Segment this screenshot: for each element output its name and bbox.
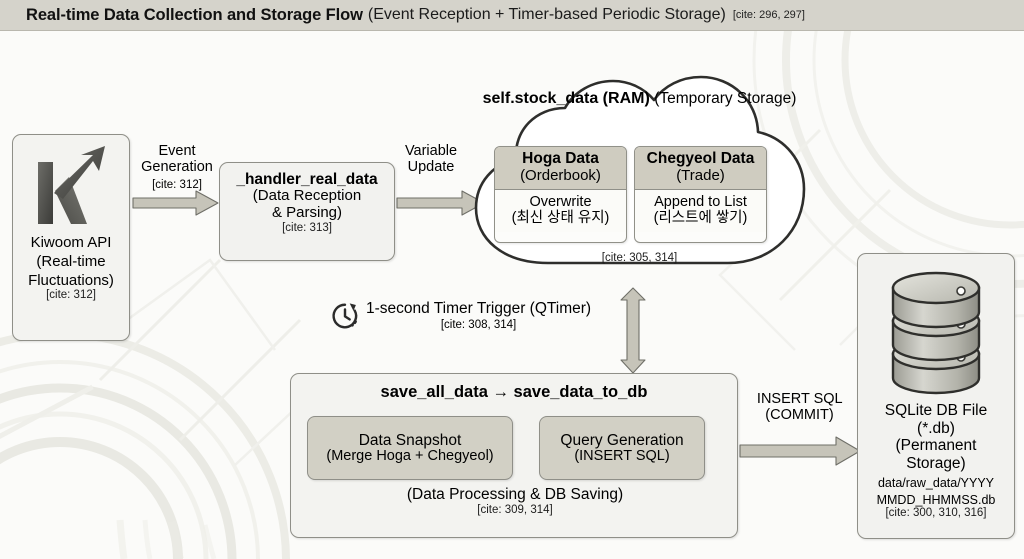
cloud-title: self.stock_data (RAM) <box>483 90 650 107</box>
db-label-line3: (Permanent <box>858 437 1014 455</box>
chegyeol-body-line1: Append to List <box>637 194 764 210</box>
kiwoom-label-line3: Fluctuations) <box>13 273 129 290</box>
flow-label-cite: [cite: 312] <box>131 179 223 192</box>
chegyeol-header: Chegyeol Data (Trade) <box>635 147 766 190</box>
database-cylinder-icon <box>881 262 991 402</box>
flow-label-event-generation: Event Generation [cite: 312] <box>131 144 223 192</box>
db-label-line2: (*.db) <box>858 420 1014 438</box>
flow-label-line2: (COMMIT) <box>765 407 833 423</box>
snapshot-line2: (Merge Hoga + Chegyeol) <box>326 449 493 465</box>
save-panel-title: save_all_data → save_data_to_db <box>291 383 737 401</box>
flow-label-insert-sql: INSERT SQL (COMMIT) <box>742 392 857 424</box>
node-data-snapshot[interactable]: Data Snapshot (Merge Hoga + Chegyeol) <box>307 416 513 480</box>
kiwoom-cite: [cite: 312] <box>13 289 129 302</box>
timer-cite: [cite: 308, 314] <box>366 319 591 331</box>
cloud-cite-wrap: [cite: 305, 314] <box>452 248 827 266</box>
kiwoom-label-line1: Kiwoom API <box>13 235 129 252</box>
arrow-event-generation <box>133 191 218 215</box>
handler-cite: [cite: 313] <box>220 222 394 235</box>
chegyeol-body: Append to List (리스트에 쌓기) <box>635 190 766 231</box>
hoga-body: Overwrite (최신 상태 유지) <box>495 190 626 231</box>
hoga-title: Hoga Data <box>497 151 624 168</box>
snapshot-line1: Data Snapshot <box>359 432 462 449</box>
diagram-canvas: Real-time Data Collection and Storage Fl… <box>0 0 1024 559</box>
clock-refresh-icon <box>330 301 360 331</box>
kiwoom-k-arrow-logo <box>13 141 131 233</box>
query-line1: Query Generation <box>560 432 683 449</box>
db-cite: [cite: 300, 310, 316] <box>858 507 1014 520</box>
save-panel-footer-text: (Data Processing & DB Saving) <box>291 486 739 504</box>
handler-line2: & Parsing) <box>220 205 394 222</box>
handler-line1: (Data Reception <box>220 188 394 205</box>
hoga-subtitle: (Orderbook) <box>497 168 624 185</box>
chegyeol-subtitle: (Trade) <box>637 168 764 185</box>
save-panel-cite: [cite: 309, 314] <box>291 504 739 517</box>
title-citation: [cite: 296, 297] <box>733 9 805 21</box>
db-path-line2: MMDD_HHMMSS.db <box>858 493 1014 507</box>
timer-label: 1-second Timer Trigger (QTimer) <box>366 300 591 317</box>
flow-label-line1: Variable <box>405 143 457 159</box>
node-query-generation[interactable]: Query Generation (INSERT SQL) <box>539 416 705 480</box>
diagram-title-bar: Real-time Data Collection and Storage Fl… <box>0 0 1024 31</box>
hoga-header: Hoga Data (Orderbook) <box>495 147 626 190</box>
node-save-all-data-panel[interactable]: save_all_data → save_data_to_db Data Sna… <box>290 373 738 538</box>
arrow-insert-sql <box>740 437 860 465</box>
timer-trigger-text: 1-second Timer Trigger (QTimer) [cite: 3… <box>366 300 591 331</box>
cloud-cite: [cite: 305, 314] <box>602 252 677 264</box>
node-stock-data-cloud[interactable]: self.stock_data (RAM) (Temporary Storage… <box>452 58 827 273</box>
flow-label-line2: Generation <box>141 159 213 175</box>
handler-title: _handler_real_data <box>220 171 394 188</box>
hoga-body-line2: (최신 상태 유지) <box>497 210 624 226</box>
save-panel-footer: (Data Processing & DB Saving) [cite: 309… <box>291 486 739 517</box>
kiwoom-label-line2: (Real-time <box>13 254 129 271</box>
hoga-body-line1: Overwrite <box>497 194 624 210</box>
flow-label-line1: Event <box>158 143 195 159</box>
page-title: Real-time Data Collection and Storage Fl… <box>26 6 363 25</box>
node-sqlite-db-file[interactable]: SQLite DB File (*.db) (Permanent Storage… <box>857 253 1015 539</box>
node-chegyeol-data[interactable]: Chegyeol Data (Trade) Append to List (리스… <box>634 146 767 243</box>
node-hoga-data[interactable]: Hoga Data (Orderbook) Overwrite (최신 상태 유… <box>494 146 627 243</box>
db-label-line1: SQLite DB File <box>858 402 1014 420</box>
node-handler-real-data[interactable]: _handler_real_data (Data Reception & Par… <box>219 162 395 261</box>
db-path-line1: data/raw_data/YYYY <box>858 476 1014 490</box>
arrow-timer-bidirectional <box>621 288 645 373</box>
cloud-title-group: self.stock_data (RAM) (Temporary Storage… <box>452 90 827 108</box>
chegyeol-title: Chegyeol Data <box>637 151 764 168</box>
cloud-subtitle: (Temporary Storage) <box>654 90 796 107</box>
query-line2: (INSERT SQL) <box>574 449 669 465</box>
db-label-line4: Storage) <box>858 455 1014 473</box>
flow-label-line1: INSERT SQL <box>757 391 842 407</box>
node-kiwoom-api[interactable]: Kiwoom API (Real-time Fluctuations) [cit… <box>12 134 130 341</box>
page-subtitle: (Event Reception + Timer-based Periodic … <box>368 6 726 24</box>
chegyeol-body-line2: (리스트에 쌓기) <box>637 210 764 226</box>
flow-label-line2: Update <box>408 159 455 175</box>
timer-trigger-group: 1-second Timer Trigger (QTimer) [cite: 3… <box>330 300 591 331</box>
flow-label-variable-update: Variable Update <box>392 144 470 176</box>
